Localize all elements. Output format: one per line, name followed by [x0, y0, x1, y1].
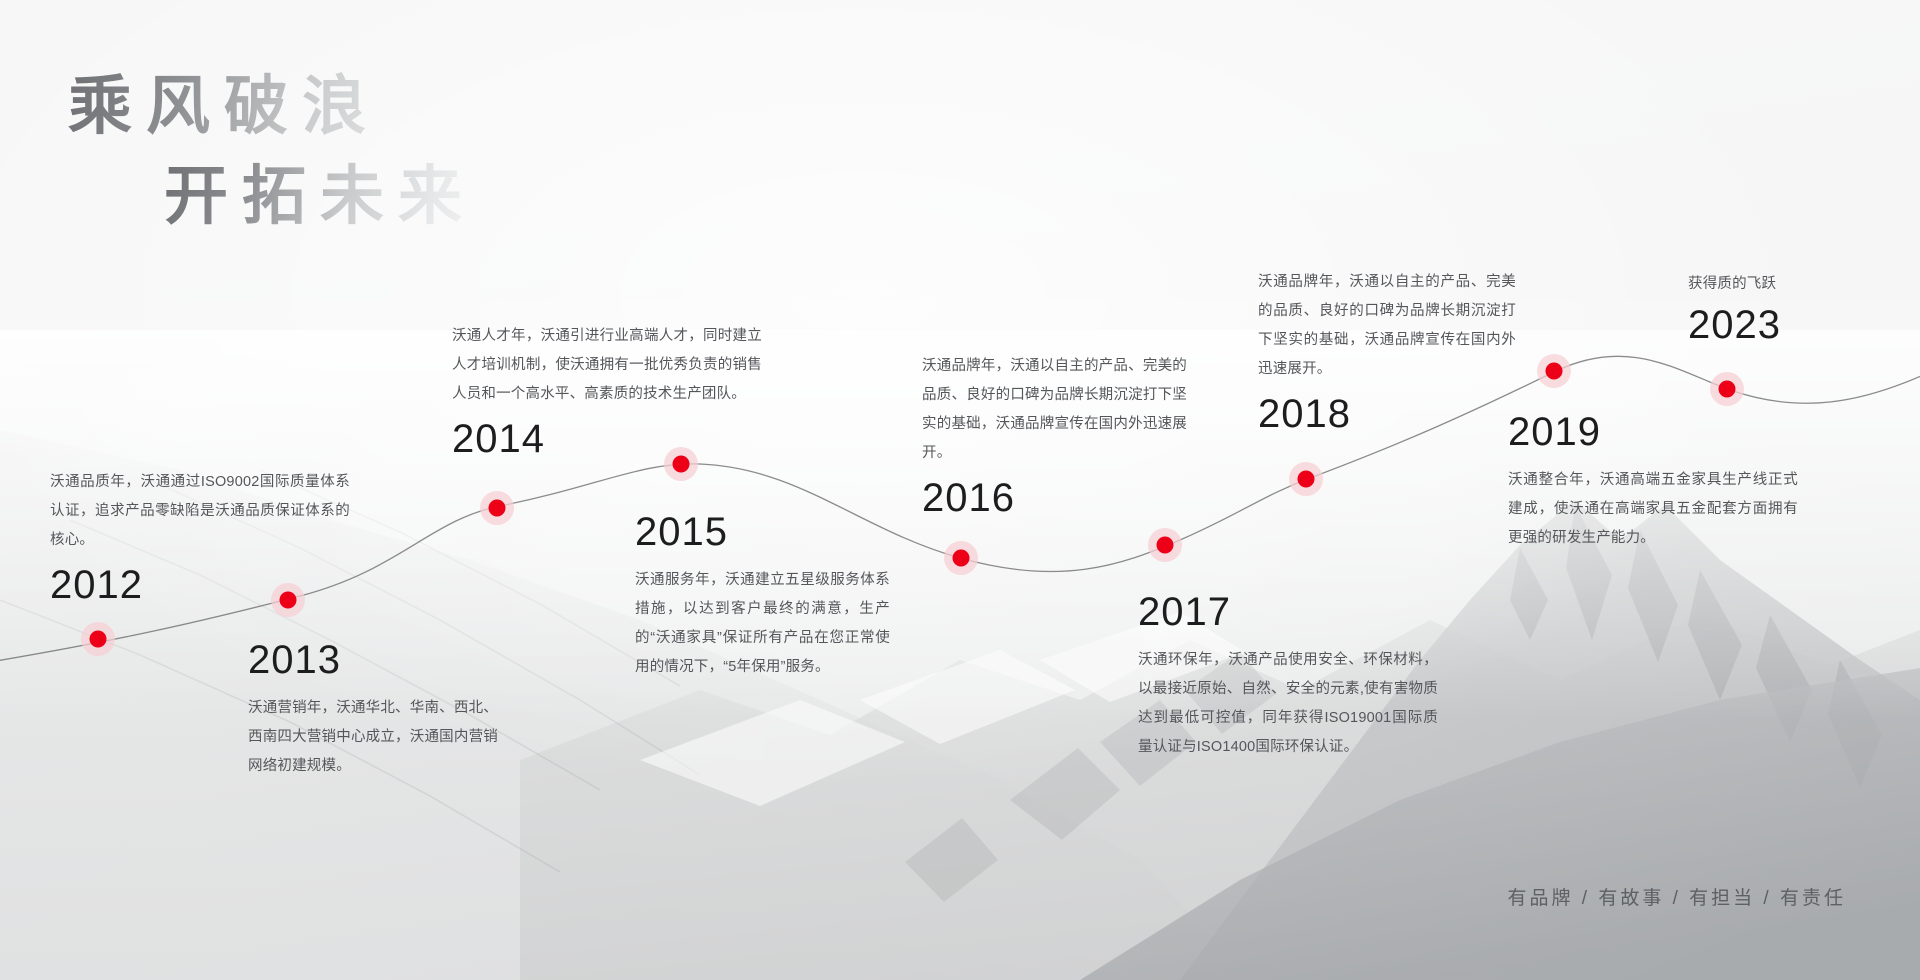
milestone-description-2012: 沃通品质年，沃通通过ISO9002国际质量体系认证，追求产品零缺陷是沃通品质保证…: [50, 468, 350, 555]
milestone-description-2018: 沃通品牌年，沃通以自主的产品、完美的品质、良好的口碑为品牌长期沉淀打下坚实的基础…: [1258, 268, 1516, 384]
milestone-year-2016: 2016: [922, 478, 1187, 518]
dot-core: [1157, 537, 1174, 554]
dot-core: [90, 631, 107, 648]
timeline-dot-2017[interactable]: [1148, 528, 1182, 562]
dot-core: [1298, 471, 1315, 488]
timeline-dot-2012[interactable]: [81, 622, 115, 656]
milestone-2019[interactable]: 2019沃通整合年，沃通高端五金家具生产线正式建成，使沃通在高端家具五金配套方面…: [1508, 412, 1798, 553]
milestone-year-2013: 2013: [248, 640, 498, 680]
timeline-dot-2014[interactable]: [480, 491, 514, 525]
dot-core: [1546, 363, 1563, 380]
milestone-description-2014: 沃通人才年，沃通引进行业高端人才，同时建立人才培训机制，使沃通拥有一批优秀负责的…: [452, 322, 762, 409]
milestone-2015[interactable]: 2015沃通服务年，沃通建立五星级服务体系措施，以达到客户最终的满意，生产的“沃…: [635, 512, 890, 682]
milestone-year-2017: 2017: [1138, 592, 1438, 632]
milestone-2018[interactable]: 沃通品牌年，沃通以自主的产品、完美的品质、良好的口碑为品牌长期沉淀打下坚实的基础…: [1258, 268, 1516, 434]
milestone-year-2019: 2019: [1508, 412, 1798, 452]
milestone-description-2015: 沃通服务年，沃通建立五星级服务体系措施，以达到客户最终的满意，生产的“沃通家具”…: [635, 566, 890, 682]
milestone-year-2018: 2018: [1258, 394, 1516, 434]
infographic-stage: 乘风破浪 开拓未来 沃通品质年，沃通通过ISO9002国际质量体系认证，追求产品…: [0, 0, 1920, 980]
timeline-dot-2018[interactable]: [1289, 462, 1323, 496]
milestone-description-2013: 沃通营销年，沃通华北、华南、西北、西南四大营销中心成立，沃通国内营销网络初建规模…: [248, 694, 498, 781]
milestone-description-2019: 沃通整合年，沃通高端五金家具生产线正式建成，使沃通在高端家具五金配套方面拥有更强…: [1508, 466, 1798, 553]
milestone-description-2023: 获得质的飞跃: [1688, 270, 1918, 299]
dot-core: [953, 550, 970, 567]
milestone-year-2012: 2012: [50, 565, 350, 605]
milestone-2014[interactable]: 沃通人才年，沃通引进行业高端人才，同时建立人才培训机制，使沃通拥有一批优秀负责的…: [452, 322, 762, 459]
milestone-year-2023: 2023: [1688, 305, 1918, 345]
milestone-2016[interactable]: 沃通品牌年，沃通以自主的产品、完美的品质、良好的口碑为品牌长期沉淀打下坚实的基础…: [922, 352, 1187, 518]
milestone-2023[interactable]: 获得质的飞跃2023: [1688, 270, 1918, 345]
milestone-description-2016: 沃通品牌年，沃通以自主的产品、完美的品质、良好的口碑为品牌长期沉淀打下坚实的基础…: [922, 352, 1187, 468]
milestone-2012[interactable]: 沃通品质年，沃通通过ISO9002国际质量体系认证，追求产品零缺陷是沃通品质保证…: [50, 468, 350, 605]
milestone-2017[interactable]: 2017沃通环保年，沃通产品使用安全、环保材料，以最接近原始、自然、安全的元素,…: [1138, 592, 1438, 762]
timeline-dot-2019[interactable]: [1537, 354, 1571, 388]
milestone-year-2015: 2015: [635, 512, 890, 552]
milestone-description-2017: 沃通环保年，沃通产品使用安全、环保材料，以最接近原始、自然、安全的元素,使有害物…: [1138, 646, 1438, 762]
footer-tagline: 有品牌 / 有故事 / 有担当 / 有责任: [1507, 883, 1846, 910]
dot-core: [1719, 381, 1736, 398]
milestone-year-2014: 2014: [452, 419, 762, 459]
milestone-2013[interactable]: 2013沃通营销年，沃通华北、华南、西北、西南四大营销中心成立，沃通国内营销网络…: [248, 640, 498, 781]
dot-core: [489, 500, 506, 517]
timeline-dot-2023[interactable]: [1710, 372, 1744, 406]
timeline-dot-2016[interactable]: [944, 541, 978, 575]
